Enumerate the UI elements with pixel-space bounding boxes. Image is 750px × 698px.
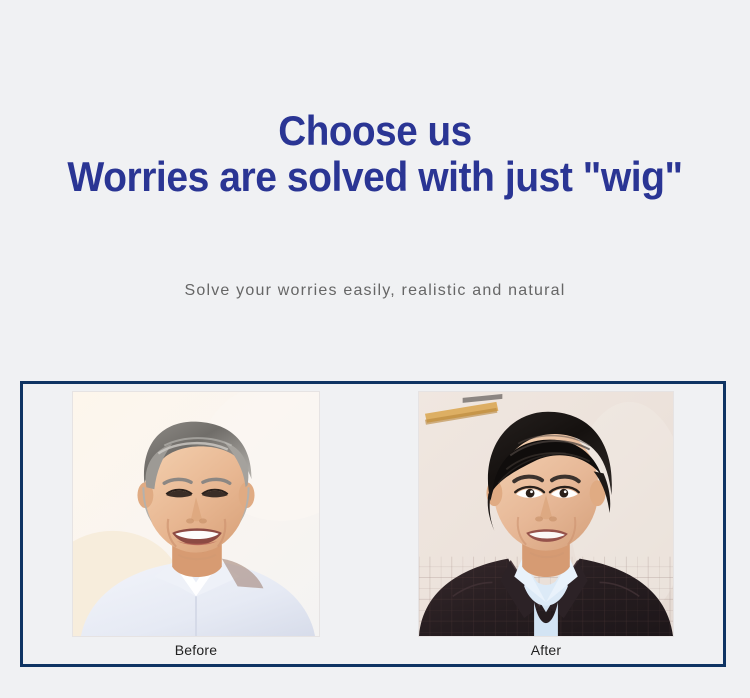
headline-line-2: Worries are solved with just "wig": [26, 154, 724, 200]
comparison-item-after: After: [418, 391, 674, 658]
caption-after: After: [531, 642, 562, 658]
after-portrait-illustration: [419, 392, 673, 636]
caption-before: Before: [175, 642, 217, 658]
before-portrait-illustration: [73, 392, 319, 636]
promo-page: Choose us Worries are solved with just "…: [0, 0, 750, 698]
page-title: Choose us Worries are solved with just "…: [0, 108, 750, 200]
comparison-item-before: Before: [72, 391, 320, 658]
before-photo-man-thinning-gray-hair: [72, 391, 320, 637]
headline-line-1: Choose us: [30, 108, 720, 154]
before-after-row: Before: [23, 384, 723, 664]
after-photo-man-full-dark-hair: [418, 391, 674, 637]
before-after-frame: Before: [20, 381, 726, 667]
subtitle-text: Solve your worries easily, realistic and…: [0, 282, 750, 300]
